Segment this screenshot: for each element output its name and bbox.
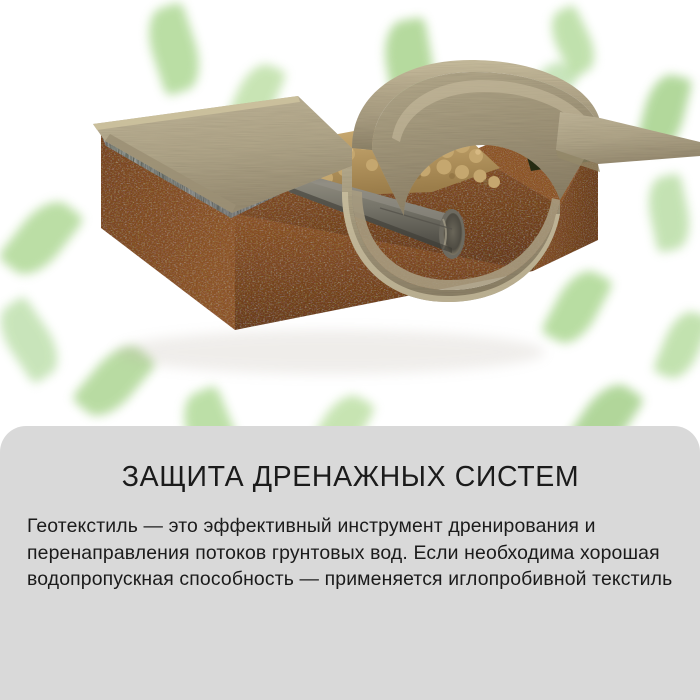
geotextile-right-sheet — [556, 112, 700, 164]
page-title: ЗАЩИТА ДРЕНАЖНЫХ СИСТЕМ — [27, 462, 674, 493]
caption-body-text: Геотекстиль — это эффективный инструмент… — [27, 513, 674, 592]
ground-shadow — [115, 330, 545, 374]
poster: ЗАЩИТА ДРЕНАЖНЫХ СИСТЕМ Геотекстиль — эт… — [0, 0, 700, 700]
drainage-trench-illustration — [0, 0, 700, 440]
caption-panel: ЗАЩИТА ДРЕНАЖНЫХ СИСТЕМ Геотекстиль — эт… — [0, 426, 700, 700]
